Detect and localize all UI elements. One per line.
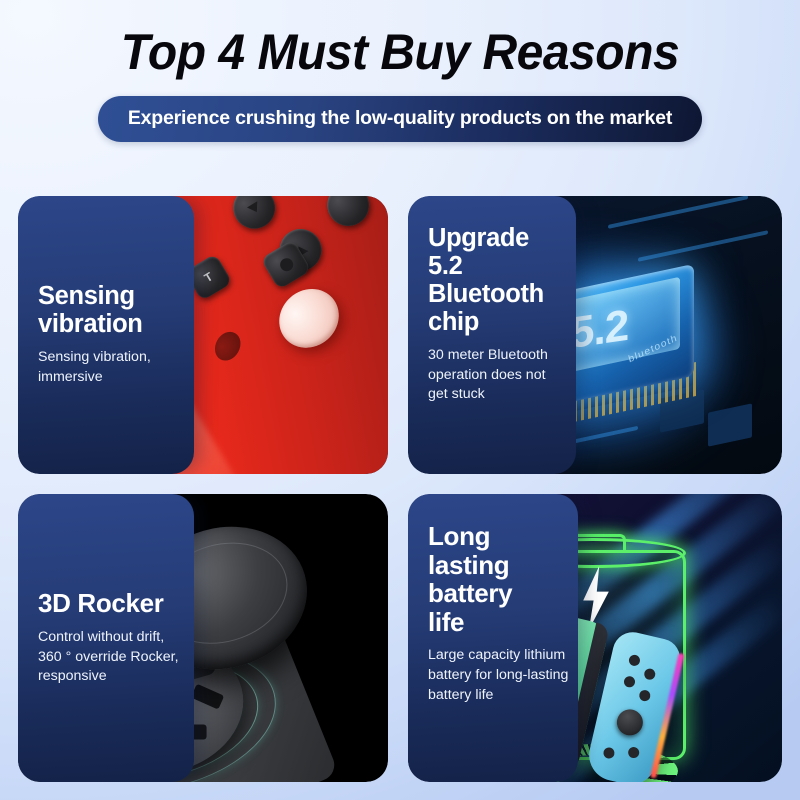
- feature-card-grid: T Sensing vibration Sensing vibration, i…: [18, 196, 782, 782]
- header: Top 4 Must Buy Reasons Experience crushi…: [0, 0, 800, 142]
- card-panel-sensing-vibration: Sensing vibration Sensing vibration, imm…: [18, 196, 194, 474]
- card-description: 30 meter Bluetooth operation does not ge…: [428, 346, 568, 405]
- card-title: 3D Rocker: [38, 589, 186, 618]
- card-title: Sensing vibration: [38, 282, 186, 338]
- joycon-button: [627, 746, 640, 759]
- triangle-down-icon: [247, 201, 262, 215]
- card-title-line-4: life: [428, 607, 464, 637]
- card-title-line-3: battery: [428, 578, 512, 608]
- joycon-button: [602, 746, 615, 759]
- circle-glyph-icon: [277, 256, 295, 274]
- feature-card-battery-life[interactable]: Long lasting battery life Large capacity…: [408, 494, 782, 782]
- controller-port-hole: [210, 327, 246, 365]
- feature-card-3d-rocker[interactable]: 3D Rocker Control without drift, 360 ° o…: [18, 494, 388, 782]
- joycon-analog-stick: [614, 707, 645, 738]
- card-title-line-1: Long: [428, 521, 490, 551]
- card-title-line-2: vibration: [38, 310, 143, 338]
- card-title-line-2: 5.2: [428, 252, 462, 280]
- card-title: Upgrade 5.2 Bluetooth chip: [428, 224, 568, 336]
- card-description: Large capacity lithium battery for long-…: [428, 646, 570, 705]
- card-title-line-3: Bluetooth: [428, 280, 544, 308]
- card-description: Control without drift, 360 ° override Ro…: [38, 628, 186, 687]
- card-title-line-2: lasting: [428, 550, 509, 580]
- chip-version-label: 5.2: [570, 301, 628, 359]
- joycon-button: [623, 675, 636, 688]
- pcb-trace: [608, 196, 748, 229]
- card-panel-3d-rocker: 3D Rocker Control without drift, 360 ° o…: [18, 494, 194, 782]
- joycon-button: [643, 668, 656, 681]
- card-description: Sensing vibration, immersive: [38, 348, 186, 387]
- feature-card-sensing-vibration[interactable]: T Sensing vibration Sensing vibration, i…: [18, 196, 388, 474]
- card-panel-battery-life: Long lasting battery life Large capacity…: [408, 494, 578, 782]
- card-title-line-4: chip: [428, 308, 479, 336]
- page-title: Top 4 Must Buy Reasons: [16, 26, 784, 79]
- pcb-component: [708, 403, 752, 446]
- dpad-extra-button-icon: [319, 196, 377, 234]
- joycon-button: [638, 689, 651, 702]
- subtitle-banner: Experience crushing the low-quality prod…: [98, 96, 702, 142]
- card-panel-bluetooth-chip: Upgrade 5.2 Bluetooth chip 30 meter Blue…: [408, 196, 576, 474]
- card-title-line-1: Upgrade: [428, 224, 529, 252]
- base-slot: [191, 684, 225, 710]
- controller-analog-stick: [267, 277, 351, 360]
- dpad-down-button-icon: [225, 196, 283, 237]
- joycon-button: [628, 654, 641, 667]
- pcb-trace: [638, 230, 768, 262]
- feature-card-bluetooth-chip[interactable]: 5.2 bluetooth Upgrade 5.2 Bluetooth chip…: [408, 196, 782, 474]
- card-title: Long lasting battery life: [428, 522, 570, 636]
- card-title-line-1: Sensing: [38, 282, 135, 310]
